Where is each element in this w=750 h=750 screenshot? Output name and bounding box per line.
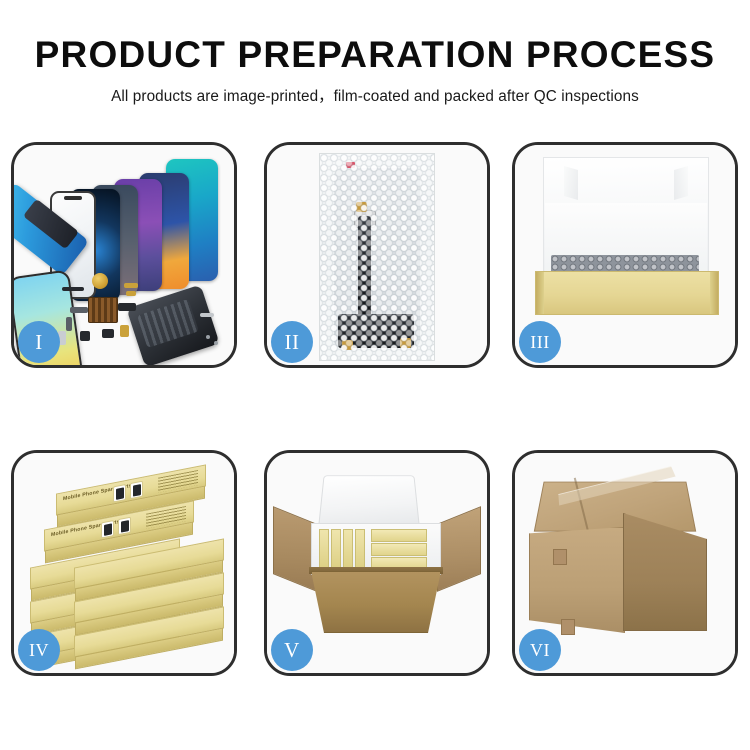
part-screw-a [206,335,210,339]
step-badge-2: II [271,321,313,363]
process-step-panel-5: V [264,450,490,676]
part-bracket-b [66,317,72,331]
inner-yellow-box-4 [355,529,365,569]
box-phone-image-c [101,520,114,539]
step-badge-5: V [271,629,313,671]
inner-yellow-box-2 [331,529,341,569]
process-step-panel-2: II [264,142,490,368]
part-camera-flex [118,303,136,311]
box-phone-image-b [130,481,143,500]
box-phone-image-d [118,517,131,536]
process-panel-grid: I II [8,138,742,683]
part-screwdriver [200,313,214,317]
inner-yellow-box-flat-2 [371,543,427,556]
lid-flap-right [674,166,688,200]
carton-flap-right [437,506,481,592]
part-gold-flex-a [124,283,138,288]
process-step-panel-6: VI [512,450,738,676]
step-badge-1: I [18,321,60,363]
page-header: PRODUCT PREPARATION PROCESS All products… [0,0,750,130]
part-earpiece-mesh [62,287,84,291]
box-phone-image-a [113,484,126,503]
inner-yellow-box-flat-1 [371,529,427,542]
carton-body [311,571,441,633]
process-step-panel-4: Mobile Phone Spare Parts Mobile Phone Sp… [11,450,237,676]
step-badge-6: VI [519,629,561,671]
part-gold-module [120,325,129,337]
inner-yellow-box-3 [343,529,353,569]
process-step-panel-1: I [11,142,237,368]
part-button-b [102,329,114,338]
lid-flap-left [564,166,578,200]
phone-notch [64,196,82,200]
carton-front-face [529,527,625,633]
carton-tab-upper [553,549,567,565]
page-subtitle: All products are image-printed，film-coat… [0,84,750,106]
carton-tab-lower [561,619,575,635]
part-screw-b [214,341,218,345]
inner-yellow-box-1 [319,529,329,569]
page-title: PRODUCT PREPARATION PROCESS [0,34,750,76]
process-step-panel-3: III [512,142,738,368]
foam-lid [318,475,420,527]
yellow-box-tray [535,271,719,315]
step-badge-4: IV [18,629,60,671]
step-badge-3: III [519,321,561,363]
phone-back-housing [126,284,219,365]
part-speaker-coil [92,273,108,289]
part-bracket-a [70,307,88,313]
part-gold-flex-b [126,291,136,296]
bubble-texture-overlay [320,154,434,360]
part-connector-array [88,297,118,323]
part-button-a [80,331,90,341]
bubble-wrap-bag [319,153,435,361]
